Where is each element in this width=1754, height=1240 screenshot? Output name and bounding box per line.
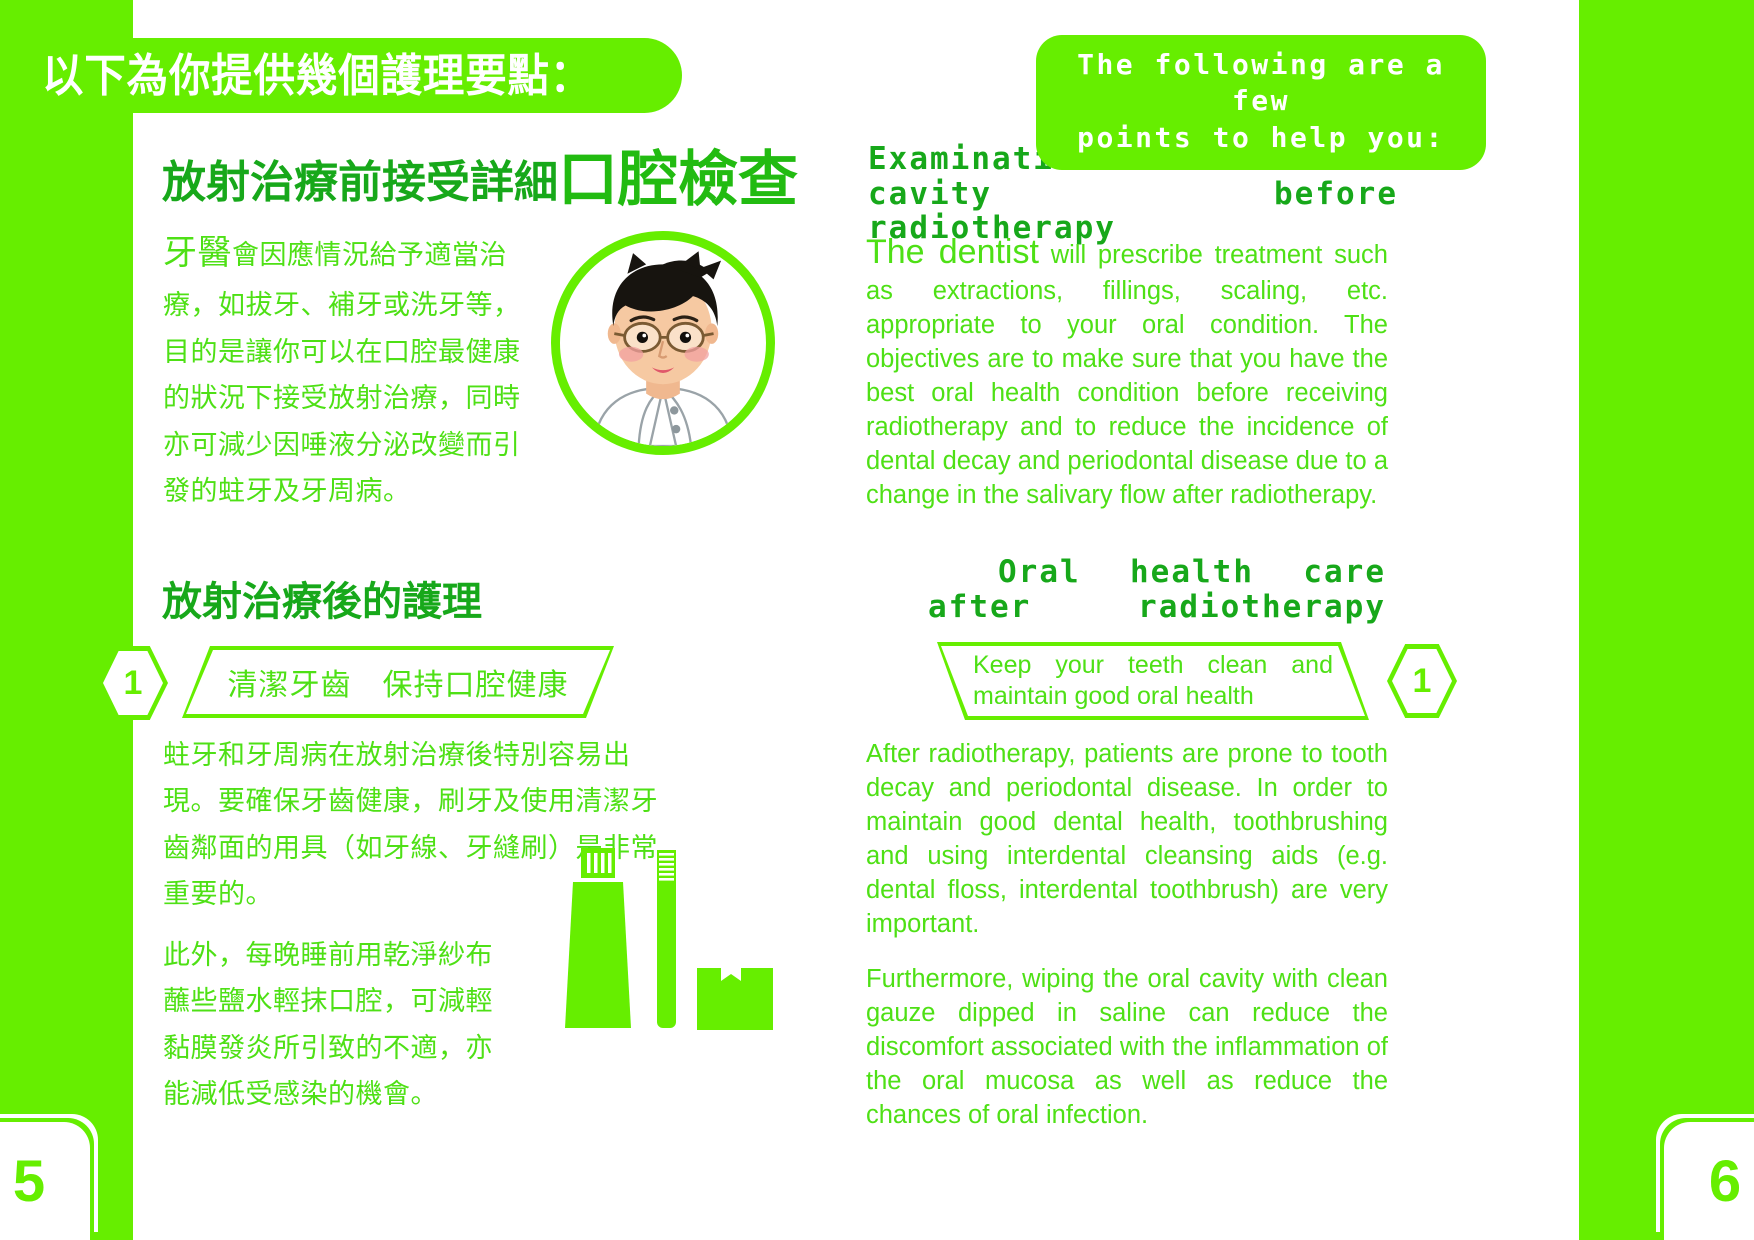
en-section1-body: The dentist will prescribe treatment suc… [866, 230, 1388, 513]
right-header-pill-line2: points to help you: [1058, 120, 1464, 156]
pamphlet-spread: 以下為你提供幾個護理要點： 放射治療前接受詳細口腔檢查 牙醫會因應情況給予適當治… [0, 0, 1754, 1240]
cn-section1-heading-emphasis: 口腔檢查 [558, 146, 798, 213]
dentist-illustration-icon [560, 240, 766, 446]
right-page-green-bar [1579, 0, 1754, 1240]
left-header-pill-label: 以下為你提供幾個護理要點： [42, 53, 592, 98]
right-header-pill-line1: The following are a few [1058, 47, 1464, 120]
en-section2-heading-line1: Oral health care [868, 555, 1386, 590]
left-header-pill: 以下為你提供幾個護理要點： [28, 38, 682, 113]
en-section2-paragraph-2: Furthermore, wiping the oral cavity with… [866, 963, 1388, 1133]
cn-section1-heading-normal: 放射治療前接受詳細 [162, 158, 558, 207]
en-step-banner: Keep your teeth clean and maintain good … [937, 642, 1369, 720]
oral-hygiene-icon [565, 848, 780, 1063]
toothpaste-and-toothbrush-illustration [565, 848, 780, 1063]
page-number-right: 6 [1664, 1122, 1754, 1240]
page-number-left: 5 [0, 1122, 90, 1240]
cn-step-banner-label: 清潔牙齒 保持口腔健康 [228, 660, 569, 704]
cn-section2-paragraph-2: 此外，每晚睡前用乾淨紗布蘸些鹽水輕抹口腔，可減輕黏膜發炎所引致的不適，亦能減低受… [163, 932, 503, 1118]
dentist-avatar [551, 231, 775, 455]
cn-section2-badge-row: 1 清潔牙齒 保持口腔健康 [98, 646, 618, 718]
cn-section1-heading: 放射治療前接受詳細口腔檢查 [162, 150, 798, 210]
cn-step-badge: 1 [98, 646, 168, 720]
cn-step-banner: 清潔牙齒 保持口腔健康 [182, 646, 614, 718]
en-section2-body: After radiotherapy, patients are prone t… [866, 738, 1388, 1133]
en-section2-paragraph-1: After radiotherapy, patients are prone t… [866, 738, 1388, 941]
en-step-badge-number: 1 [1392, 649, 1452, 713]
right-header-pill: The following are a few points to help y… [1036, 35, 1486, 170]
left-page-white-gutter [133, 0, 147, 1240]
en-section2-badge-row: Keep your teeth clean and maintain good … [937, 642, 1457, 720]
en-section1-body-text: will prescribe treatment such as extract… [866, 241, 1388, 509]
right-page-white-gutter [1565, 0, 1579, 1240]
cn-section1-body: 牙醫會因應情況給予適當治療，如拔牙、補牙或洗牙等，目的是讓你可以在口腔最健康的狀… [163, 224, 535, 515]
en-step-badge: 1 [1387, 644, 1457, 718]
en-section2-heading-line2: after radiotherapy [868, 590, 1386, 625]
en-step-banner-label: Keep your teeth clean and maintain good … [937, 650, 1369, 713]
cn-section1-body-lead: 牙醫 [163, 234, 232, 272]
cn-section1-body-text: 會因應情況給予適當治療，如拔牙、補牙或洗牙等，目的是讓你可以在口腔最健康的狀況下… [163, 240, 521, 506]
en-section1-body-lead: The dentist [866, 233, 1039, 271]
left-page-green-bar [0, 0, 133, 1240]
en-section2-heading: Oral health care after radiotherapy [868, 555, 1386, 624]
cn-section2-heading: 放射治療後的護理 [162, 582, 482, 622]
cn-step-badge-number: 1 [103, 651, 163, 715]
